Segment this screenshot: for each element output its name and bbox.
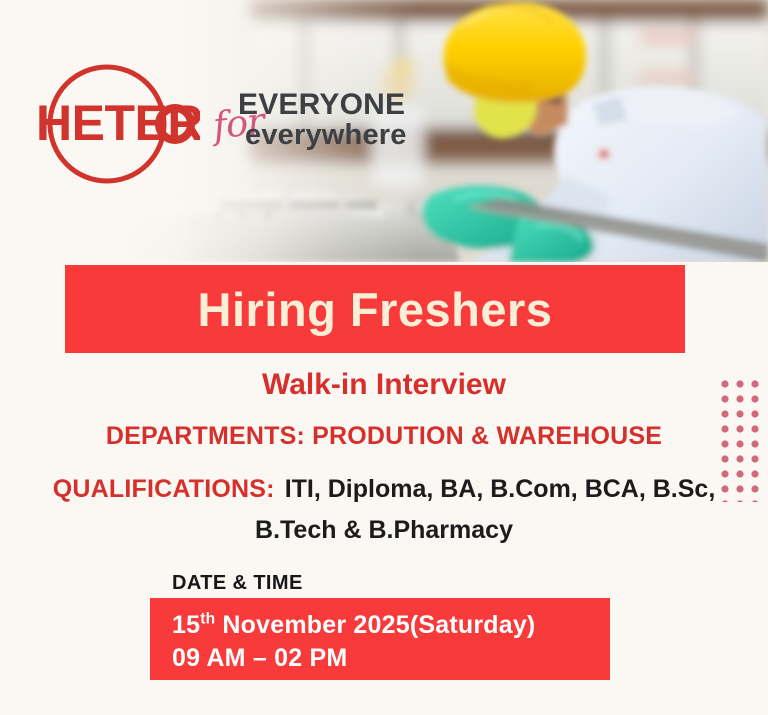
- headline-text: Hiring Freshers: [198, 282, 553, 337]
- headline-banner: Hiring Freshers: [65, 265, 685, 353]
- event-date-rest: November 2025(Saturday): [215, 611, 535, 639]
- hetero-logo: HETERO: [30, 58, 200, 190]
- brand-tagline: for EVERYONE everywhere: [213, 88, 443, 164]
- qualifications-value-1: ITI, Diploma, BA, B.Com, BCA, B.Sc,: [285, 475, 716, 503]
- recruitment-poster: HETERO for EVERYONE everywhere Hiring: [0, 0, 768, 715]
- event-date-suffix: th: [200, 611, 215, 628]
- tagline-everywhere: everywhere: [245, 119, 407, 152]
- qualifications-label: QUALIFICATIONS:: [53, 475, 275, 503]
- qualifications-line-2: B.Tech & B.Pharmacy: [0, 516, 768, 545]
- event-date-day: 15: [172, 611, 200, 639]
- tagline-everyone: EVERYONE: [238, 88, 405, 122]
- event-time: 09 AM – 02 PM: [172, 642, 535, 675]
- datetime-content: 15th November 2025(Saturday) 09 AM – 02 …: [172, 609, 535, 676]
- datetime-banner: 15th November 2025(Saturday) 09 AM – 02 …: [150, 598, 610, 680]
- subtitle-walk-in-interview: Walk-in Interview: [0, 368, 768, 402]
- datetime-label: DATE & TIME: [172, 572, 303, 595]
- departments-line: DEPARTMENTS: PRODUTION & WAREHOUSE: [0, 422, 768, 451]
- event-date: 15th November 2025(Saturday): [172, 609, 535, 642]
- qualifications-line-1: QUALIFICATIONS:ITI, Diploma, BA, B.Com, …: [0, 475, 768, 504]
